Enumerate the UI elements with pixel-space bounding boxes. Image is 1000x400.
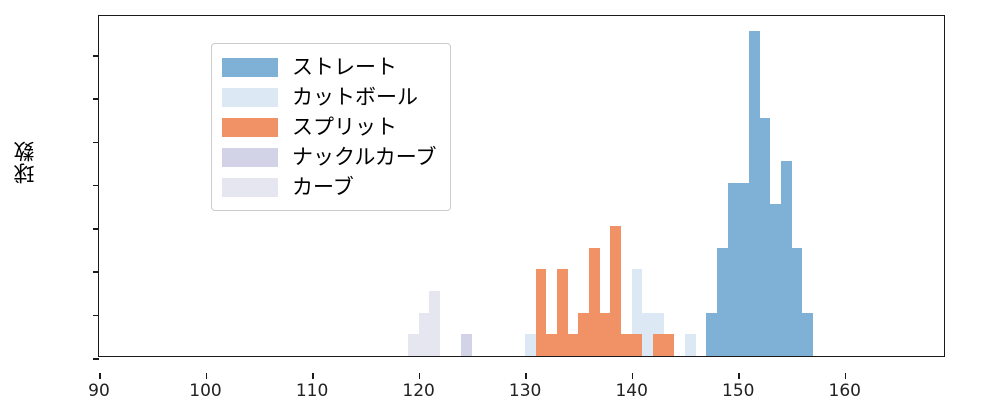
y-tick-mark: [93, 271, 99, 273]
legend: ストレートカットボールスプリットナックルカーブカーブ: [211, 43, 451, 211]
histogram-bar: [589, 248, 600, 356]
histogram-bar: [664, 334, 675, 356]
legend-swatch-icon: [222, 178, 278, 197]
x-tick-label: 130: [495, 381, 555, 400]
x-tick-label: 150: [708, 381, 768, 400]
histogram-bar: [429, 291, 440, 356]
histogram-bar: [749, 31, 760, 356]
histogram-bar: [621, 334, 632, 356]
legend-label: カーブ: [292, 177, 354, 198]
histogram-bar: [632, 334, 643, 356]
x-tick-mark: [845, 373, 847, 379]
histogram-bar: [546, 334, 557, 356]
histogram-bar: [600, 313, 611, 356]
x-tick-mark: [312, 373, 314, 379]
y-tick-mark: [93, 55, 99, 57]
histogram-bar: [728, 183, 739, 356]
histogram-bar: [461, 334, 472, 356]
histogram-bar: [653, 334, 664, 356]
legend-label: スプリット: [292, 117, 397, 138]
y-tick-mark: [93, 358, 99, 360]
histogram-figure: 球数 02468101214 90100110120130140150160 ス…: [0, 0, 1000, 400]
x-tick-label: 120: [389, 381, 449, 400]
plot-area: 02468101214 90100110120130140150160 ストレー…: [98, 15, 945, 357]
histogram-bar: [557, 269, 568, 356]
x-tick-label: 100: [176, 381, 236, 400]
y-tick-mark: [93, 142, 99, 144]
x-tick-mark: [525, 373, 527, 379]
histogram-bar: [578, 313, 589, 356]
legend-swatch-icon: [222, 88, 278, 107]
x-tick-label: 140: [602, 381, 662, 400]
x-tick-label: 90: [69, 381, 129, 400]
histogram-bar: [568, 334, 579, 356]
x-tick-mark: [419, 373, 421, 379]
legend-item-2: スプリット: [222, 112, 436, 142]
legend-swatch-icon: [222, 148, 278, 167]
legend-label: ナックルカーブ: [292, 147, 436, 168]
histogram-bar: [770, 204, 781, 356]
histogram-bar: [781, 161, 792, 356]
legend-swatch-icon: [222, 118, 278, 137]
histogram-bar: [802, 313, 813, 356]
x-tick-mark: [738, 373, 740, 379]
histogram-bar: [536, 269, 547, 356]
histogram-bar: [738, 183, 749, 356]
legend-label: ストレート: [292, 57, 397, 78]
histogram-bar: [717, 248, 728, 356]
legend-label: カットボール: [292, 87, 418, 108]
histogram-bar: [685, 334, 696, 356]
histogram-bar: [642, 313, 653, 356]
x-tick-mark: [632, 373, 634, 379]
x-tick-mark: [99, 373, 101, 379]
legend-swatch-icon: [222, 58, 278, 77]
y-axis-label: 球数: [10, 140, 40, 184]
x-tick-mark: [206, 373, 208, 379]
y-tick-mark: [93, 315, 99, 317]
x-tick-label: 110: [282, 381, 342, 400]
y-tick-mark: [93, 185, 99, 187]
x-tick-label: 160: [815, 381, 875, 400]
histogram-bar: [760, 118, 771, 356]
histogram-bar: [525, 334, 536, 356]
histogram-bar: [419, 313, 430, 356]
legend-item-4: カーブ: [222, 172, 436, 202]
histogram-bar: [610, 226, 621, 356]
legend-item-3: ナックルカーブ: [222, 142, 436, 172]
legend-item-1: カットボール: [222, 82, 436, 112]
histogram-bar: [408, 334, 419, 356]
histogram-bar: [792, 248, 803, 356]
y-tick-mark: [93, 228, 99, 230]
y-tick-mark: [93, 98, 99, 100]
legend-item-0: ストレート: [222, 52, 436, 82]
histogram-bar: [706, 313, 717, 356]
